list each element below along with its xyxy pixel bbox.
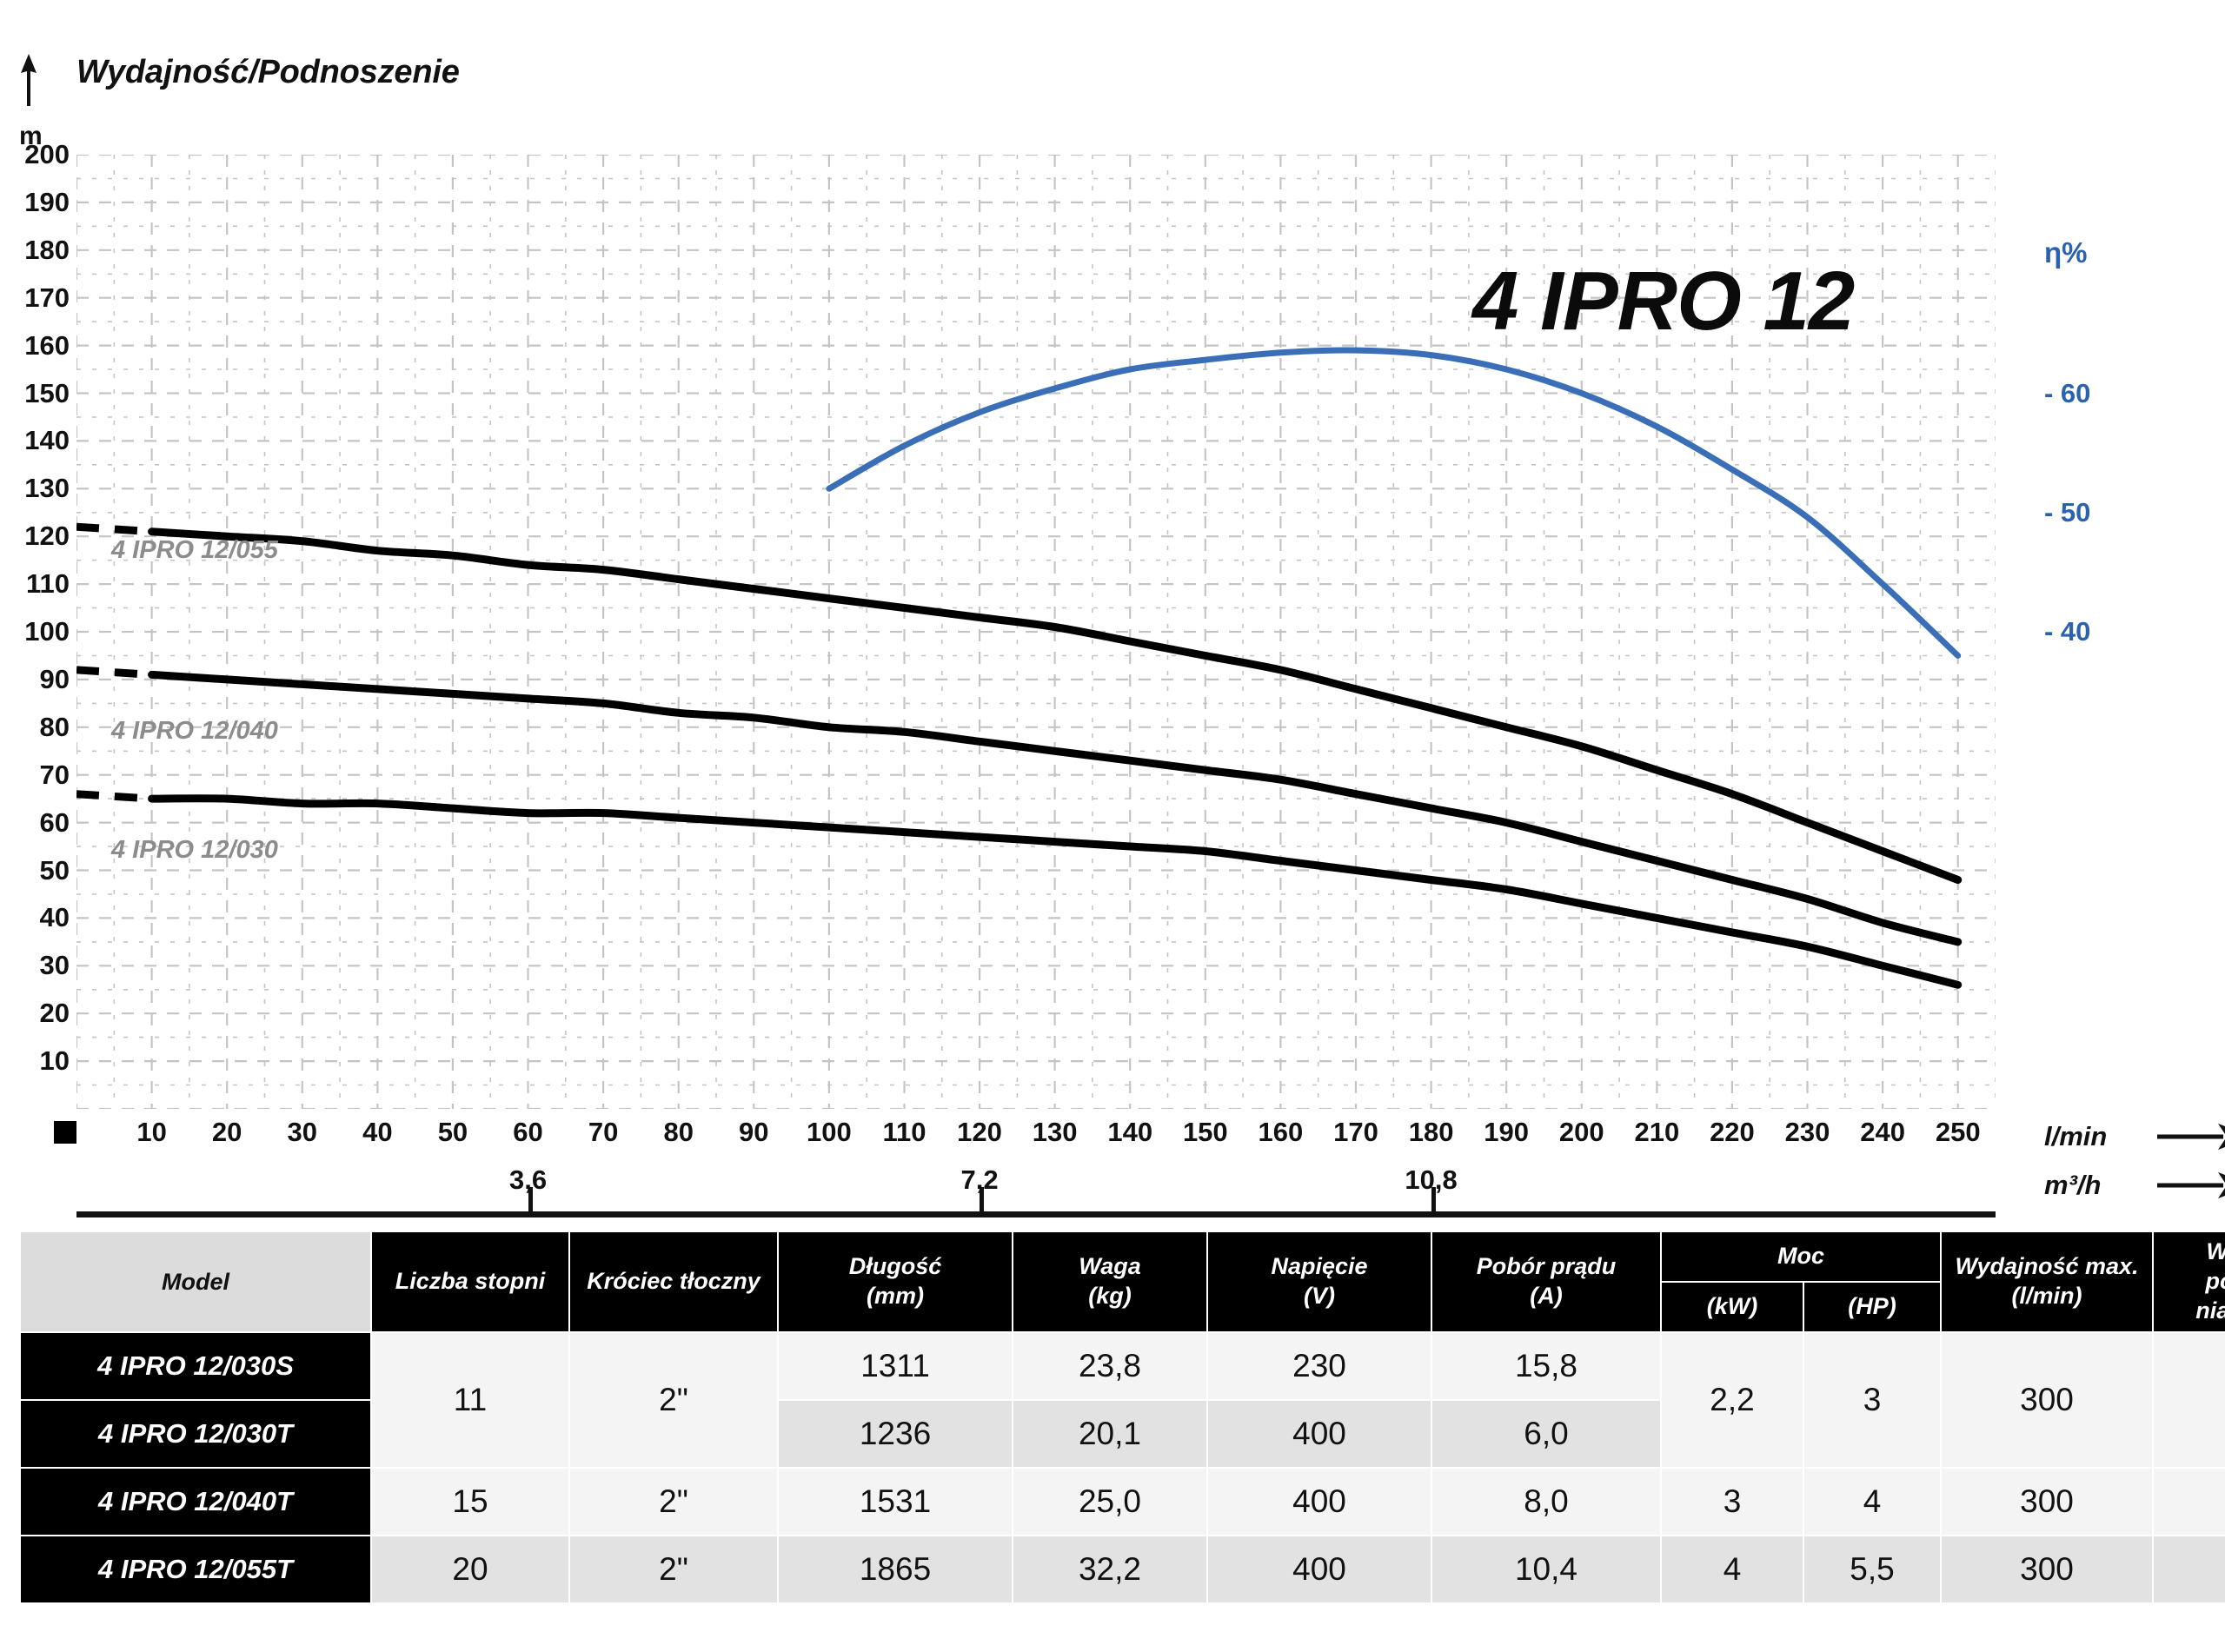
header-stages: Liczba stopni [371, 1231, 569, 1332]
cell-current: 8,0 [1431, 1468, 1661, 1536]
cell-weight: 25,0 [1013, 1468, 1207, 1536]
y-axis-tick-190: 190 [3, 187, 70, 218]
flow-unit-lmin-label: l/min [2044, 1121, 2128, 1152]
performance-chart: Wydajność/Podnoszenie m 2001901801701601… [0, 0, 2225, 1208]
table-row: 4 IPRO 12/055T 20 2" 1865 32,2 400 10,4 … [20, 1536, 2225, 1603]
x-axis-tick-150: 150 [1183, 1117, 1228, 1148]
table-row: 4 IPRO 12/040T 15 2" 1531 25,0 400 8,0 3… [20, 1468, 2225, 1536]
header-length: Długość (mm) [778, 1231, 1013, 1332]
header-voltage-text: Napięcie [1208, 1252, 1431, 1282]
curve-label: 4 IPRO 12/030 [111, 836, 278, 865]
x-axis-tick-220: 220 [1710, 1117, 1755, 1148]
cell-outlet: 2" [569, 1332, 778, 1468]
y-axis-tick-180: 180 [3, 235, 70, 266]
header-power-hp: (HP) [1803, 1282, 1941, 1332]
cell-model: 4 IPRO 12/030T [20, 1400, 371, 1468]
cell-power-hp: 3 [1803, 1332, 1941, 1468]
header-outlet: Króciec tłoczny [569, 1231, 778, 1332]
y-axis-tick-60: 60 [3, 807, 70, 839]
header-voltage-unit: (V) [1208, 1282, 1431, 1311]
header-weight-unit: (kg) [1013, 1282, 1206, 1311]
y-axis-tick-200: 200 [3, 139, 70, 170]
arrow-right-icon [2157, 1122, 2225, 1151]
y-axis-tick-50: 50 [3, 855, 70, 886]
flow-unit-legend: l/min m³/h [2044, 1112, 2225, 1210]
y-axis-tick-100: 100 [3, 616, 70, 647]
x-axis-tick-10: 10 [136, 1117, 166, 1148]
cell-weight: 23,8 [1013, 1332, 1207, 1400]
m3h-tick-mark [528, 1187, 533, 1211]
header-weight: Waga (kg) [1013, 1231, 1207, 1332]
eta-axis-tick-50: - 50 [2044, 497, 2090, 528]
cell-voltage: 400 [1207, 1400, 1431, 1468]
arrow-right-icon [2157, 1171, 2225, 1200]
cell-flow-max: 300 [1941, 1332, 2153, 1468]
cell-power-hp: 5,5 [1803, 1536, 1941, 1603]
cell-power-kw: 4 [1661, 1536, 1803, 1603]
x-axis-tick-190: 190 [1484, 1117, 1529, 1148]
m3h-tick-mark [1431, 1187, 1436, 1211]
x-axis-tick-40: 40 [362, 1117, 392, 1148]
header-current-text: Pobór prądu [1432, 1252, 1660, 1282]
x-axis-tick-210: 210 [1634, 1117, 1679, 1148]
cell-flow-max: 300 [1941, 1468, 2153, 1536]
cell-current: 15,8 [1431, 1332, 1661, 1400]
x-axis-tick-90: 90 [739, 1117, 768, 1148]
y-axis-tick-30: 30 [3, 950, 70, 981]
x-axis-tick-240: 240 [1860, 1117, 1905, 1148]
header-power: Moc [1661, 1231, 1941, 1282]
cell-voltage: 230 [1207, 1332, 1431, 1400]
cell-length: 1865 [778, 1536, 1013, 1603]
x-axis-tick-170: 170 [1333, 1117, 1378, 1148]
x-axis-tick-70: 70 [588, 1117, 618, 1148]
y-axis-tick-20: 20 [3, 998, 70, 1029]
eta-axis-tick-60: - 60 [2044, 378, 2090, 409]
cell-power-hp: 4 [1803, 1468, 1941, 1536]
cell-stages: 15 [371, 1468, 569, 1536]
cell-weight: 32,2 [1013, 1536, 1207, 1603]
x-axis-tick-30: 30 [288, 1117, 317, 1148]
y-axis-tick-130: 130 [3, 473, 70, 504]
cell-stages: 11 [371, 1332, 569, 1468]
chart-model-title: 4 IPRO 12 [1472, 254, 1854, 349]
cell-voltage: 400 [1207, 1536, 1431, 1603]
x-axis-tick-100: 100 [807, 1117, 852, 1148]
m3h-tick-mark [980, 1187, 984, 1211]
curve-label: 4 IPRO 12/055 [111, 536, 278, 565]
header-flow-max-text: Wydajność max. [1942, 1252, 2152, 1282]
eta-axis-labels: - 60- 50- 40 [2044, 155, 2218, 1109]
x-axis-tick-60: 60 [513, 1117, 542, 1148]
table-header-row: Model Liczba stopni Króciec tłoczny Dług… [20, 1231, 2225, 1282]
x-axis-origin-marker [54, 1121, 76, 1144]
y-axis-tick-160: 160 [3, 330, 70, 362]
x-axis-tick-130: 130 [1033, 1117, 1078, 1148]
x-axis-tick-250: 250 [1936, 1117, 1981, 1148]
y-axis-tick-90: 90 [3, 664, 70, 695]
cell-current: 10,4 [1431, 1536, 1661, 1603]
header-head-max-unit: nia max. (m) [2154, 1297, 2225, 1326]
cell-head-max: 92 [2153, 1468, 2225, 1536]
y-axis-tick-40: 40 [3, 902, 70, 933]
y-axis-arrow-icon [19, 54, 38, 106]
x-axis-tick-80: 80 [663, 1117, 693, 1148]
header-flow-max: Wydajność max. (l/min) [1941, 1231, 2153, 1332]
header-head-max: Wysokość podnosze- nia max. (m) [2153, 1231, 2225, 1332]
header-flow-max-unit: (l/min) [1942, 1282, 2152, 1311]
y-axis-tick-150: 150 [3, 378, 70, 409]
cell-model: 4 IPRO 12/030S [20, 1332, 371, 1400]
y-axis-tick-170: 170 [3, 282, 70, 314]
cell-weight: 20,1 [1013, 1400, 1207, 1468]
x-axis-tick-20: 20 [212, 1117, 242, 1148]
header-length-unit: (mm) [779, 1282, 1012, 1311]
cell-model: 4 IPRO 12/040T [20, 1468, 371, 1536]
header-current: Pobór prądu (A) [1431, 1231, 1661, 1332]
cell-outlet: 2" [569, 1536, 778, 1603]
y-axis-tick-110: 110 [3, 568, 70, 600]
cell-stages: 20 [371, 1536, 569, 1603]
x-axis-tick-230: 230 [1785, 1117, 1830, 1148]
specification-table: Model Liczba stopni Króciec tłoczny Dług… [19, 1231, 2225, 1604]
x-axis-tick-110: 110 [882, 1117, 926, 1148]
cell-head-max: 67 [2153, 1332, 2225, 1468]
header-power-kw: (kW) [1661, 1282, 1803, 1332]
x-axis-tick-140: 140 [1107, 1117, 1152, 1148]
cell-outlet: 2" [569, 1468, 778, 1536]
chart-axis-heading: Wydajność/Podnoszenie [76, 54, 460, 91]
y-axis-tick-120: 120 [3, 521, 70, 552]
y-axis-tick-80: 80 [3, 712, 70, 743]
x-axis-tick-120: 120 [957, 1117, 1002, 1148]
x-axis-tick-50: 50 [438, 1117, 468, 1148]
flow-unit-m3h: m³/h [2044, 1161, 2225, 1210]
header-length-text: Długość [779, 1252, 1012, 1282]
y-axis-tick-10: 10 [3, 1045, 70, 1077]
header-model: Model [20, 1231, 371, 1332]
x-axis-tick-200: 200 [1559, 1117, 1604, 1148]
m3h-axis-rule [76, 1211, 1996, 1217]
eta-axis-tick-40: - 40 [2044, 616, 2090, 647]
y-axis-labels: 2001901801701601501401301201101009080706… [0, 155, 70, 1109]
curve-label: 4 IPRO 12/040 [111, 717, 278, 746]
cell-length: 1236 [778, 1400, 1013, 1468]
cell-voltage: 400 [1207, 1468, 1431, 1536]
flow-unit-lmin: l/min [2044, 1112, 2225, 1161]
header-weight-text: Waga [1013, 1252, 1206, 1282]
y-axis-tick-70: 70 [3, 760, 70, 791]
x-axis-tick-180: 180 [1409, 1117, 1454, 1148]
cell-power-kw: 3 [1661, 1468, 1803, 1536]
header-head-max-text: Wysokość podnosze- [2154, 1237, 2225, 1297]
cell-length: 1531 [778, 1468, 1013, 1536]
cell-length: 1311 [778, 1332, 1013, 1400]
x-axis-tick-160: 160 [1259, 1117, 1304, 1148]
y-axis-tick-140: 140 [3, 425, 70, 456]
cell-flow-max: 300 [1941, 1536, 2153, 1603]
header-current-unit: (A) [1432, 1282, 1660, 1311]
table-row: 4 IPRO 12/030S 11 2" 1311 23,8 230 15,8 … [20, 1332, 2225, 1400]
flow-unit-m3h-label: m³/h [2044, 1170, 2128, 1201]
cell-current: 6,0 [1431, 1400, 1661, 1468]
cell-power-kw: 2,2 [1661, 1332, 1803, 1468]
cell-model: 4 IPRO 12/055T [20, 1536, 371, 1603]
header-voltage: Napięcie (V) [1207, 1231, 1431, 1332]
cell-head-max: 122 [2153, 1536, 2225, 1603]
